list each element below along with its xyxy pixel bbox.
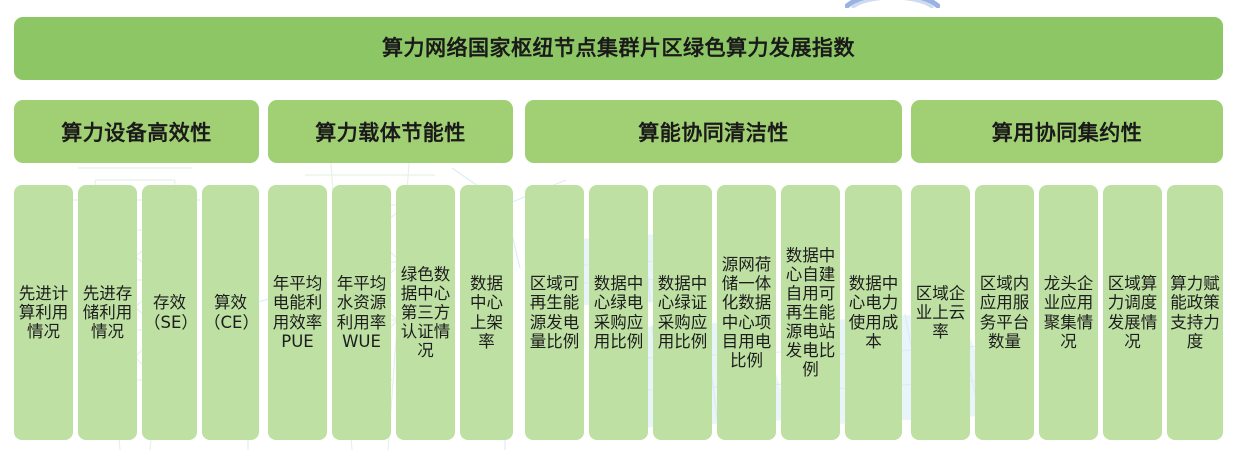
indicator-label: 年平均电能利用效率PUE: [270, 274, 325, 351]
indicator-box: 绿色数据中心第三方认证情况: [396, 185, 455, 440]
indicator-label: 区域企业上云率: [913, 284, 968, 341]
indicator-label: 区域算力调度发展情况: [1105, 274, 1160, 351]
indicator-box: 算力赋能政策支持力度: [1167, 185, 1223, 440]
category-header-label: 算力设备高效性: [61, 117, 212, 147]
indicator-label: 龙头企业应用聚集情况: [1041, 274, 1096, 351]
category-header-equipment-efficiency: 算力设备高效性: [14, 100, 259, 163]
indicator-label: 先进存储利用情况: [80, 284, 135, 341]
category-header-label: 算能协同清洁性: [638, 117, 789, 147]
indicator-box: 龙头企业应用聚集情况: [1039, 185, 1098, 440]
indicator-box: 数据中心绿电采购应用比例: [589, 185, 648, 440]
category-header-label: 算用协同集约性: [992, 117, 1143, 147]
indicator-label: 绿色数据中心第三方认证情况: [398, 265, 453, 361]
indicator-box: 数据中心电力使用成本: [845, 185, 902, 440]
indicator-label: 年平均水资源利用率WUE: [334, 274, 389, 351]
indicator-label: 数据中心绿证采购应用比例: [655, 274, 710, 351]
indicator-label: 数据中心自建自用可再生能源电站发电比例: [783, 246, 838, 380]
indicator-box: 区域算力调度发展情况: [1103, 185, 1162, 440]
indicator-box: 源网荷储一体化数据中心项目用电比例: [717, 185, 776, 440]
indicator-label: 算效（CE）: [204, 293, 257, 331]
category-header-label: 算力载体节能性: [315, 117, 466, 147]
indicator-box: 先进存储利用情况: [78, 185, 137, 440]
indicator-box: 算效（CE）: [202, 185, 259, 440]
indicator-box: 数据中心上架率: [460, 185, 513, 440]
indicator-box: 存效（SE）: [142, 185, 197, 440]
indicator-box: 先进计算利用情况: [14, 185, 73, 440]
page-title: 算力网络国家枢纽节点集群片区绿色算力发展指数: [382, 36, 855, 61]
indicator-box: 区域内应用服务平台数量: [975, 185, 1034, 440]
indicator-box: 区域企业上云率: [911, 185, 970, 440]
indicator-box: 数据中心绿证采购应用比例: [653, 185, 712, 440]
indicator-label: 区域内应用服务平台数量: [977, 274, 1032, 351]
indicator-box: 数据中心自建自用可再生能源电站发电比例: [781, 185, 840, 440]
indicator-label: 源网荷储一体化数据中心项目用电比例: [719, 255, 774, 370]
category-header-energy-synergy-clean: 算能协同清洁性: [525, 100, 902, 163]
green-computing-index-diagram: 算力网络国家枢纽节点集群片区绿色算力发展指数 算力设备高效性先进计算利用情况先进…: [0, 0, 1237, 450]
indicator-box: 区域可再生能源发电量比例: [525, 185, 584, 440]
category-header-application-synergy-intensive: 算用协同集约性: [911, 100, 1223, 163]
category-header-carrier-energy-saving: 算力载体节能性: [268, 100, 513, 163]
indicator-box: 年平均水资源利用率WUE: [332, 185, 391, 440]
indicator-label: 区域可再生能源发电量比例: [527, 274, 582, 351]
indicator-label: 数据中心上架率: [462, 274, 511, 351]
indicator-label: 数据中心绿电采购应用比例: [591, 274, 646, 351]
indicator-box: 年平均电能利用效率PUE: [268, 185, 327, 440]
indicator-label: 存效（SE）: [144, 293, 195, 331]
indicator-label: 算力赋能政策支持力度: [1169, 274, 1221, 351]
diagram-title-bar: 算力网络国家枢纽节点集群片区绿色算力发展指数: [14, 17, 1223, 80]
indicator-label: 数据中心电力使用成本: [847, 274, 900, 351]
indicator-label: 先进计算利用情况: [16, 284, 71, 341]
